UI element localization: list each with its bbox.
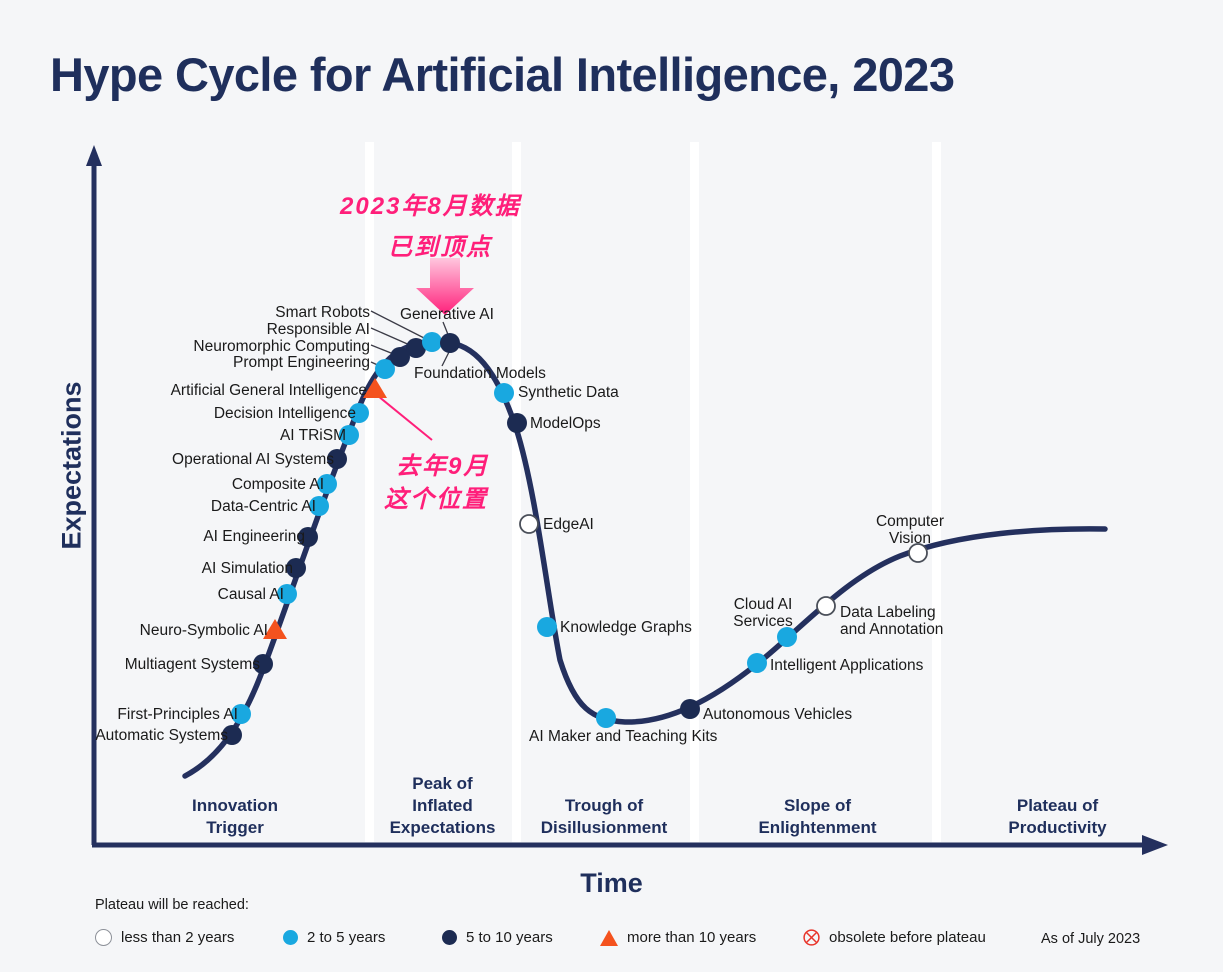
annotation-peak-line-2: 已到顶点 bbox=[388, 227, 492, 262]
point-label-prompt-engineering: Prompt Engineering bbox=[233, 354, 370, 371]
point-label-data-labeling-and-annotation: Data Labeling and Annotation bbox=[840, 604, 943, 638]
marker-autonomous-vehicles bbox=[680, 699, 700, 719]
point-label-cloud-ai-services: Cloud AI Services bbox=[728, 596, 798, 630]
phase-line-1: Slope of bbox=[700, 795, 935, 817]
as-of-date: As of July 2023 bbox=[1041, 931, 1140, 947]
point-label-modelops: ModelOps bbox=[530, 415, 601, 432]
marker-knowledge-graphs bbox=[537, 617, 557, 637]
annotation-peak-line-1: 2023年8月数据 bbox=[340, 186, 521, 221]
point-label-ai-trism: AI TRiSM bbox=[280, 427, 346, 444]
point-label-line-2: Vision bbox=[872, 530, 948, 547]
legend-label: less than 2 years bbox=[121, 929, 234, 946]
phase-line-2: Inflated bbox=[370, 795, 515, 817]
marker-synthetic-data bbox=[494, 383, 514, 403]
marker-edgeai bbox=[520, 515, 538, 533]
phase-line-1: Peak of bbox=[370, 773, 515, 795]
point-label-edgeai: EdgeAI bbox=[543, 516, 594, 533]
annotation-last-year-line-1: 去年9月 bbox=[396, 446, 489, 481]
point-label-artificial-general-intelligence: Artificial General Intelligence bbox=[171, 382, 367, 399]
point-label-responsible-ai: Responsible AI bbox=[267, 321, 370, 338]
point-label-neuro-symbolic-ai: Neuro-Symbolic AI bbox=[140, 622, 268, 639]
point-label-first-principles-ai: First-Principles AI bbox=[117, 706, 238, 723]
point-label-neuromorphic-computing: Neuromorphic Computing bbox=[193, 338, 370, 355]
phase-line-2: Productivity bbox=[945, 817, 1170, 839]
point-label-decision-intelligence: Decision Intelligence bbox=[214, 405, 356, 422]
navy-circle-icon bbox=[442, 930, 457, 945]
x-axis-label: Time bbox=[0, 868, 1223, 899]
point-label-intelligent-applications: Intelligent Applications bbox=[770, 657, 923, 674]
orange-triangle-icon bbox=[600, 930, 618, 946]
crossed-circle-icon bbox=[803, 929, 820, 946]
point-label-ai-engineering: AI Engineering bbox=[203, 528, 305, 545]
blue-circle-icon bbox=[283, 930, 298, 945]
point-label-synthetic-data: Synthetic Data bbox=[518, 384, 619, 401]
point-label-line-1: Foundation Models bbox=[414, 365, 546, 382]
last-year-leader-line bbox=[378, 396, 432, 440]
point-label-smart-robots: Smart Robots bbox=[275, 304, 370, 321]
phase-line-2: Disillusionment bbox=[518, 817, 690, 839]
point-label-line-1: Cloud AI bbox=[728, 596, 798, 613]
marker-ai-maker-and-teaching-kits bbox=[596, 708, 616, 728]
legend-label: obsolete before plateau bbox=[829, 929, 986, 946]
legend-item-5-to-10-years[interactable]: 5 to 10 years bbox=[442, 929, 553, 946]
point-label-composite-ai: Composite AI bbox=[232, 476, 324, 493]
legend-title: Plateau will be reached: bbox=[95, 897, 249, 913]
legend-item-obsolete-before-plateau[interactable]: obsolete before plateau bbox=[803, 929, 986, 946]
point-label-line-2: Services bbox=[728, 613, 798, 630]
legend-label: more than 10 years bbox=[627, 929, 756, 946]
phase-label-plateau-of-productivity: Plateau of Productivity bbox=[945, 795, 1170, 839]
legend-item-2-to-5-years[interactable]: 2 to 5 years bbox=[283, 929, 385, 946]
point-label-knowledge-graphs: Knowledge Graphs bbox=[560, 619, 692, 636]
legend-label: 5 to 10 years bbox=[466, 929, 553, 946]
marker-data-labeling-and-annotation bbox=[817, 597, 835, 615]
point-label-generative-ai: Generative AI bbox=[400, 306, 494, 323]
marker-smart-robots bbox=[422, 332, 442, 352]
phase-label-innovation-trigger: Innovation Trigger bbox=[155, 795, 315, 839]
point-label-automatic-systems: Automatic Systems bbox=[95, 727, 228, 744]
phase-label-slope-of-enlightenment: Slope of Enlightenment bbox=[700, 795, 935, 839]
y-axis-label: Expectations bbox=[57, 356, 88, 576]
phase-line-2: Enlightenment bbox=[700, 817, 935, 839]
point-label-data-centric-ai: Data-Centric AI bbox=[211, 498, 316, 515]
hollow-circle-icon bbox=[95, 929, 112, 946]
point-label-computer-vision: Computer Vision bbox=[872, 513, 948, 547]
point-label-operational-ai-systems: Operational AI Systems bbox=[172, 451, 334, 468]
point-label-foundation-models: Foundation Models bbox=[414, 365, 546, 382]
phase-line-1: Trough of bbox=[518, 795, 690, 817]
legend-label: 2 to 5 years bbox=[307, 929, 385, 946]
legend-item-more-than-10-years[interactable]: more than 10 years bbox=[600, 929, 756, 946]
annotation-last-year-line-2: 这个位置 bbox=[384, 479, 488, 514]
phase-label-trough-of-disillusionment: Trough of Disillusionment bbox=[518, 795, 690, 839]
point-label-multiagent-systems: Multiagent Systems bbox=[125, 656, 260, 673]
point-label-ai-simulation: AI Simulation bbox=[202, 560, 293, 577]
phase-line-1: Plateau of bbox=[945, 795, 1170, 817]
point-label-line-2: and Annotation bbox=[840, 621, 943, 638]
marker-cloud-ai-services bbox=[777, 627, 797, 647]
point-label-causal-ai: Causal AI bbox=[218, 586, 284, 603]
marker-intelligent-applications bbox=[747, 653, 767, 673]
point-label-autonomous-vehicles: Autonomous Vehicles bbox=[703, 706, 852, 723]
marker-modelops bbox=[507, 413, 527, 433]
phase-line-2: Trigger bbox=[155, 817, 315, 839]
point-label-line-1: Computer bbox=[872, 513, 948, 530]
point-label-ai-maker-and-teaching-kits: AI Maker and Teaching Kits bbox=[529, 728, 717, 745]
phase-label-peak-of-inflated-expectations: Peak of Inflated Expectations bbox=[370, 773, 515, 839]
phase-line-1: Innovation bbox=[155, 795, 315, 817]
legend-item-less-than-2-years[interactable]: less than 2 years bbox=[95, 929, 234, 946]
point-label-line-1: Data Labeling bbox=[840, 604, 943, 621]
marker-generative-ai-foundation-models bbox=[440, 333, 460, 353]
phase-line-3: Expectations bbox=[370, 817, 515, 839]
